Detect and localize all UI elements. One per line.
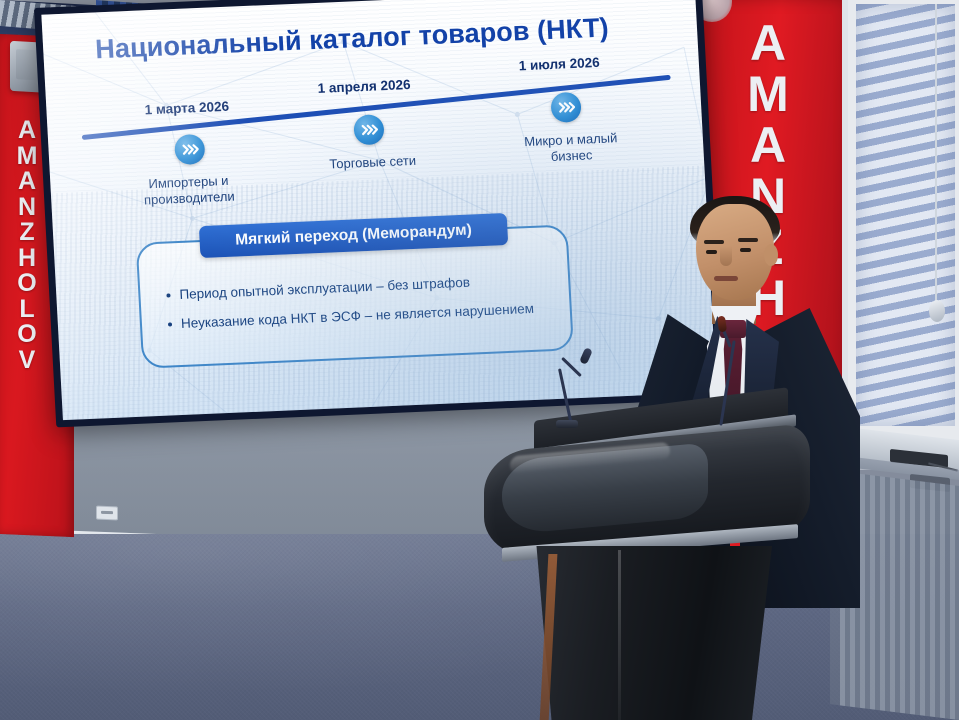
- memorandum-bullet: Неуказание кода НКТ в ЭСФ – не является …: [168, 300, 555, 333]
- blind-cord-weight[interactable]: [929, 300, 945, 322]
- eye-right: [740, 248, 751, 252]
- podium-seam: [618, 550, 621, 720]
- microphone-head-icon: [717, 316, 727, 333]
- chevron-badge-icon: [174, 134, 206, 165]
- microphone-stem-curve: [561, 357, 582, 377]
- bullet-dot-icon: [168, 323, 172, 327]
- memorandum-bullets: Период опытной эксплуатации – без штрафо…: [166, 271, 555, 346]
- nose: [720, 246, 732, 266]
- timeline-node-1: [174, 134, 206, 165]
- triple-chevron-icon: [557, 100, 576, 115]
- eyebrow-left: [704, 240, 724, 244]
- eye-left: [706, 250, 717, 254]
- microphone-right: [700, 316, 754, 424]
- conference-room-photo: AMANZHOLOV AMANZH: [0, 0, 959, 720]
- window-blinds[interactable]: [856, 4, 955, 426]
- bullet-dot-icon: [166, 293, 170, 297]
- memorandum-bullet-text: Неуказание кода НКТ в ЭСФ – не является …: [181, 301, 535, 332]
- podium: [478, 404, 826, 720]
- microphone-stem: [719, 340, 735, 425]
- microphone-stem: [558, 368, 573, 425]
- timeline-node-2: [353, 114, 385, 145]
- memorandum-bullet-text: Период опытной эксплуатации – без штрафо…: [179, 275, 470, 304]
- timeline-node-3: [550, 92, 582, 123]
- mouth: [714, 276, 738, 281]
- eyebrow-right: [738, 238, 758, 242]
- chevron-badge-icon: [353, 114, 385, 145]
- triple-chevron-icon: [360, 122, 379, 137]
- blind-cord[interactable]: [935, 4, 937, 304]
- triple-chevron-icon: [180, 142, 199, 157]
- timeline-date-1: 1 марта 2026: [144, 99, 229, 118]
- memorandum-card: Мягкий переход (Меморандум) Период опытн…: [136, 224, 574, 368]
- wall-outlet: [96, 506, 118, 521]
- ear: [764, 244, 778, 266]
- timeline-label-3: Микро и малый бизнес: [500, 129, 642, 167]
- microphone-base: [556, 420, 578, 428]
- microphone-left: [556, 348, 616, 426]
- memorandum-bullet: Период опытной эксплуатации – без штрафо…: [166, 271, 553, 304]
- timeline-label-1: Импортеры и производители: [122, 172, 256, 210]
- chevron-badge-icon: [550, 92, 582, 123]
- microphone-head-icon: [579, 347, 593, 365]
